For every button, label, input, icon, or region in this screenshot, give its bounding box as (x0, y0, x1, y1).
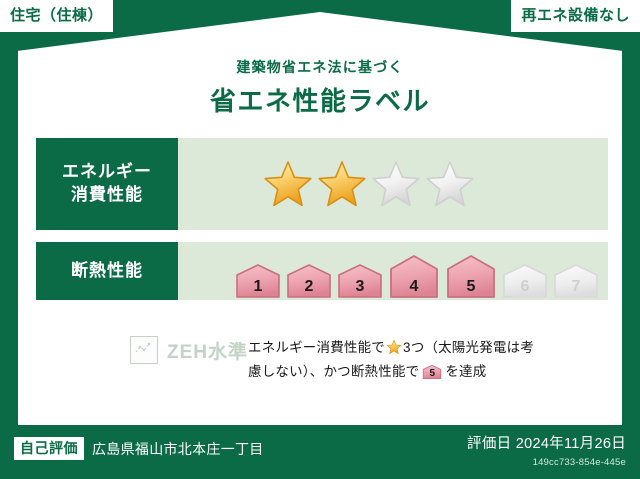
evaluation-date: 評価日 2024年11月26日 (467, 432, 626, 453)
building-type-badge: 住宅（住棟） (0, 0, 113, 32)
zeh-standard-label: ZEH水準 (167, 337, 248, 364)
insulation-grade-7: 7 (552, 260, 600, 300)
footer-right: 評価日 2024年11月26日 149cc733-854e-445e (467, 432, 626, 468)
label-identifier: 149cc733-854e-445e (467, 457, 626, 468)
zeh-description: エネルギー消費性能で3つ（太陽光発電は考慮しない）、かつ断熱性能で5を達成 (248, 336, 538, 383)
insulation-grade-scale: 1 2 3 4 (178, 242, 600, 300)
renewable-energy-badge: 再エネ設備なし (511, 0, 640, 32)
inline-house-number: 5 (422, 369, 442, 379)
insulation-grade-2: 2 (285, 260, 333, 300)
inline-star-icon (386, 339, 402, 355)
zeh-standard-block: ZEH水準 (130, 336, 248, 364)
title-main: 省エネ性能ラベル (0, 81, 640, 118)
title-subtitle: 建築物省エネ法に基づく (0, 57, 640, 77)
energy-performance-value (178, 138, 608, 230)
label-footer: 自己評価 広島県福山市北本庄一丁目 評価日 2024年11月26日 149cc7… (0, 425, 640, 479)
energy-performance-label: エネルギー 消費性能 (36, 138, 178, 230)
insulation-grade-5: 5 (444, 252, 498, 300)
insulation-performance-row: 断熱性能 (36, 242, 608, 300)
insulation-grade-4-number: 4 (387, 279, 441, 295)
insulation-performance-label: 断熱性能 (36, 242, 178, 300)
inline-house-icon: 5 (422, 363, 442, 380)
evaluation-type-badge: 自己評価 (14, 437, 84, 460)
insulation-label-text: 断熱性能 (71, 260, 143, 283)
insulation-grade-3-number: 3 (336, 279, 384, 295)
insulation-grade-1-number: 1 (234, 279, 282, 295)
footer-left: 自己評価 広島県福山市北本庄一丁目 (14, 437, 264, 460)
energy-performance-row: エネルギー 消費性能 (36, 138, 608, 230)
insulation-grade-1: 1 (234, 260, 282, 300)
property-address: 広島県福山市北本庄一丁目 (92, 439, 264, 459)
star-icon-empty-4 (424, 158, 476, 210)
insulation-grade-2-number: 2 (285, 279, 333, 295)
insulation-grade-4: 4 (387, 252, 441, 300)
star-icon-filled-1 (262, 158, 314, 210)
energy-label-line2: 消費性能 (71, 184, 143, 207)
insulation-grade-3: 3 (336, 260, 384, 300)
insulation-performance-value: 1 2 3 4 (178, 242, 608, 300)
zeh-desc-part3: を達成 (445, 364, 486, 379)
energy-label-line1: エネルギー (62, 161, 152, 184)
insulation-grade-7-number: 7 (552, 279, 600, 295)
star-icon-empty-3 (370, 158, 422, 210)
label-title: 建築物省エネ法に基づく 省エネ性能ラベル (0, 57, 640, 118)
star-icon-filled-2 (316, 158, 368, 210)
star-rating (178, 158, 476, 210)
zeh-desc-part1: エネルギー消費性能で (248, 340, 385, 355)
zeh-checkbox-icon (130, 336, 158, 364)
insulation-grade-6: 6 (501, 260, 549, 300)
insulation-grade-6-number: 6 (501, 279, 549, 295)
insulation-grade-5-number: 5 (444, 279, 498, 295)
